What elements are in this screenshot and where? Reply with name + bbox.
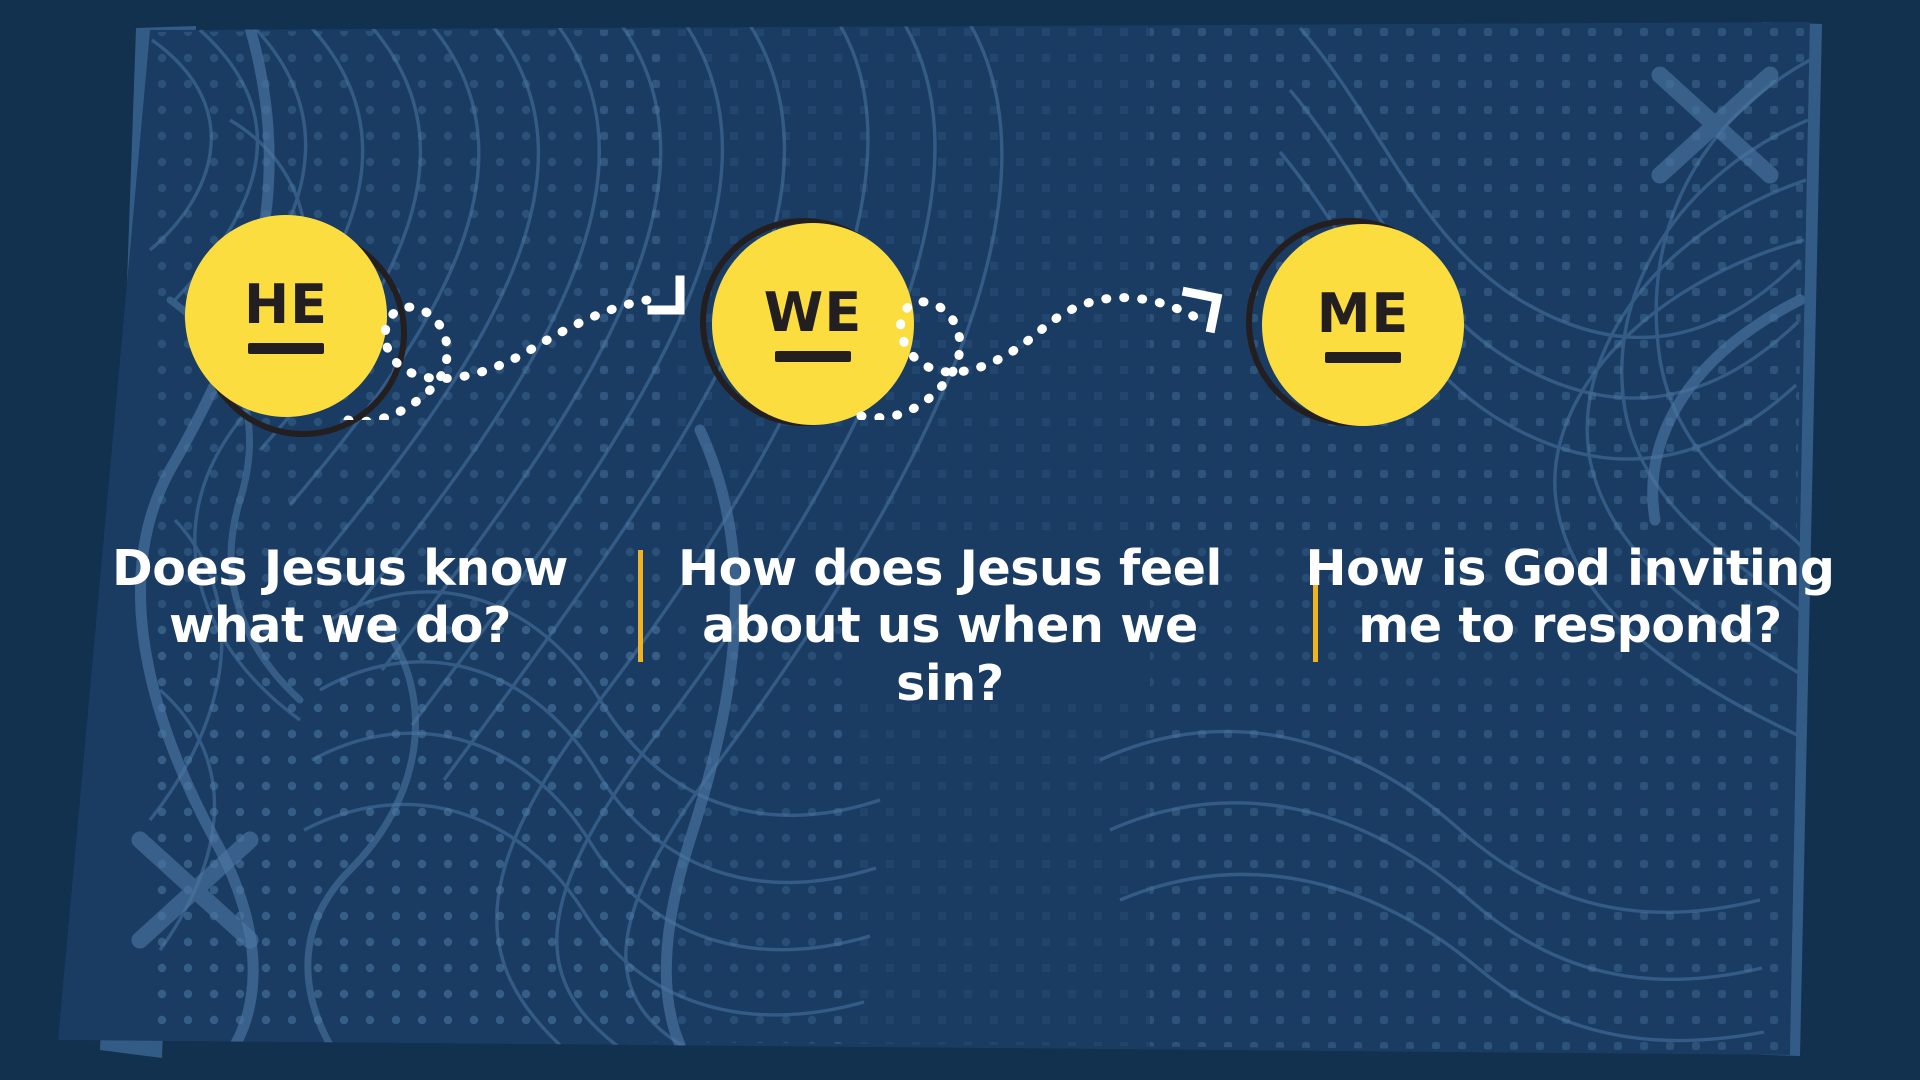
underline-bar-icon	[775, 351, 851, 362]
heading-he: Does Jesus know what we do?	[60, 540, 620, 655]
badge-label-group: ME	[1262, 224, 1464, 426]
heading-column-he: Does Jesus know what we do?	[60, 540, 620, 655]
underline-bar-icon	[248, 343, 324, 354]
heading-we: How does Jesus feel about us when we sin…	[640, 540, 1260, 712]
badge-me[interactable]: ME	[1246, 218, 1468, 440]
badge-row: HE WE ME	[0, 0, 1920, 540]
underline-bar-icon	[1325, 352, 1401, 363]
heading-me: How is God inviting me to respond?	[1290, 540, 1850, 655]
badge-label-text: ME	[1317, 287, 1410, 341]
headings-row: Does Jesus know what we do? How does Jes…	[0, 540, 1920, 860]
connector-arrow-we-to-me	[845, 220, 1265, 420]
slide-canvas: HE WE ME	[0, 0, 1920, 1080]
heading-column-we: How does Jesus feel about us when we sin…	[640, 540, 1260, 712]
badge-label-text: HE	[244, 278, 328, 332]
heading-column-me: How is God inviting me to respond?	[1290, 540, 1850, 655]
connector-arrow-he-to-we	[330, 220, 730, 420]
